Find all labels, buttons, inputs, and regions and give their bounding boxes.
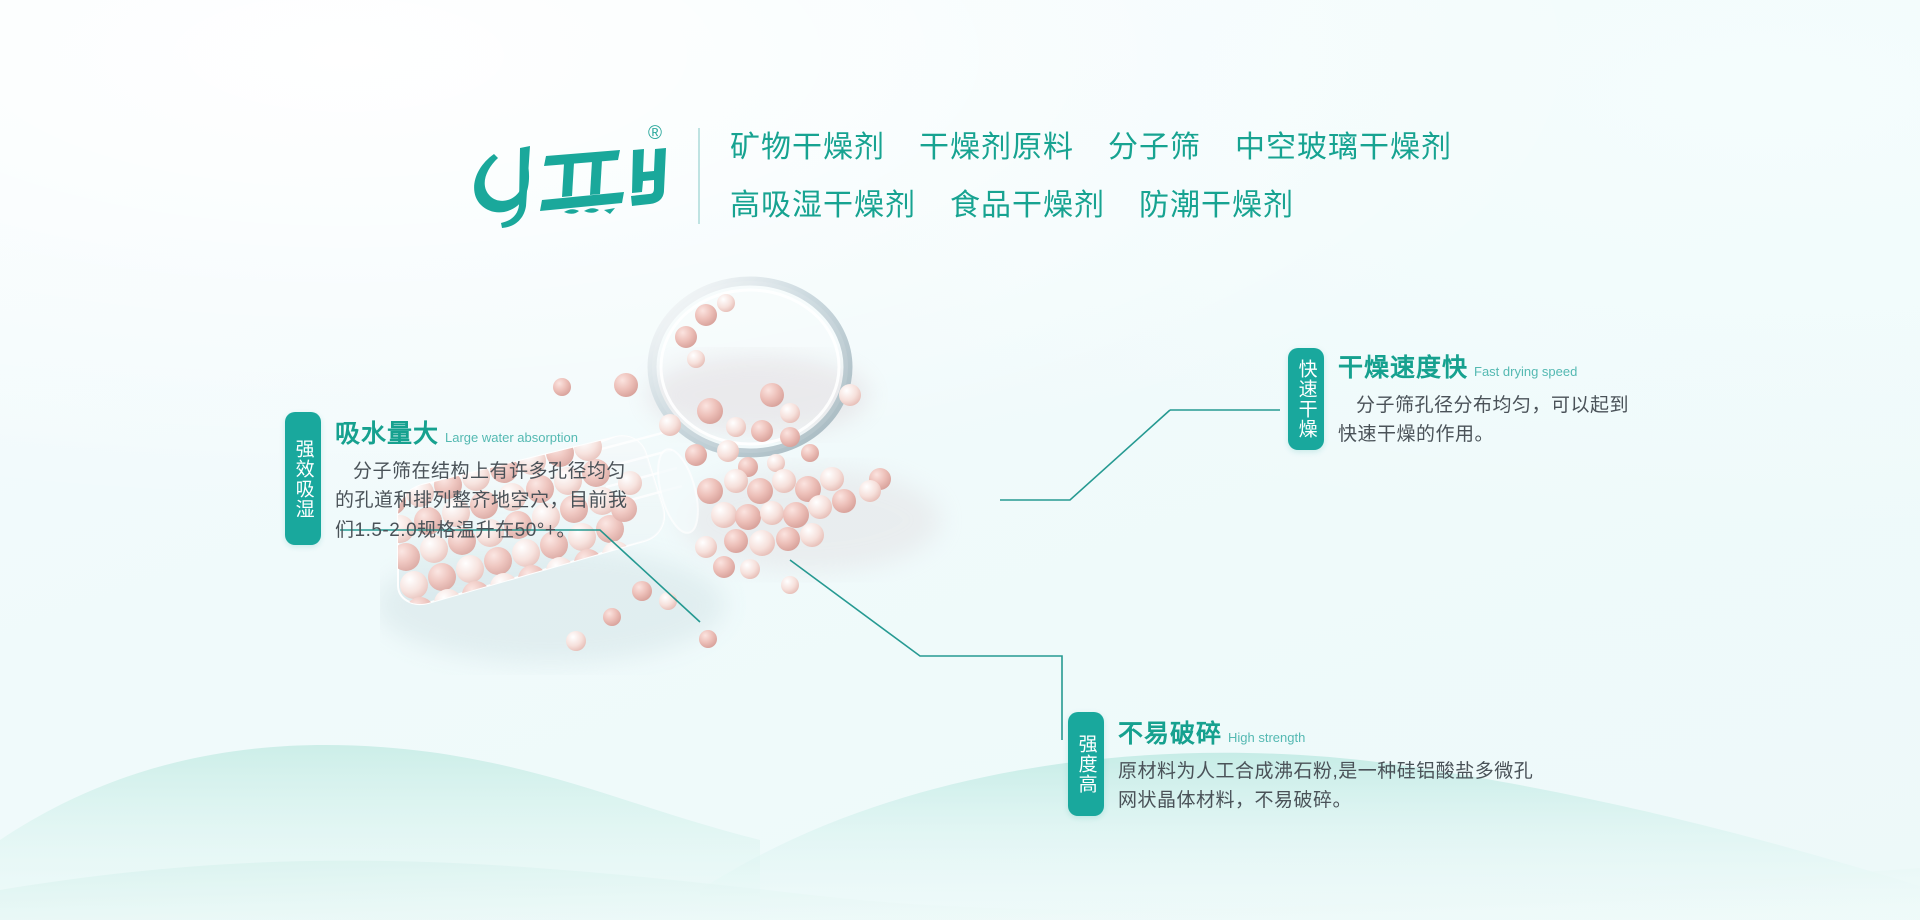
callout-title: 干燥速度快 <box>1338 348 1468 384</box>
callout-body: 原材料为人工合成沸石粉,是一种硅铝酸盐多微孔网状晶体材料，不易破碎。 <box>1118 757 1548 816</box>
banner-root: ® 矿物干燥剂 干燥剂原料 分子筛 中空玻璃干燥剂 高吸湿干燥剂 食品干燥剂 防… <box>0 0 1920 920</box>
callout-title: 不易破碎 <box>1118 714 1222 750</box>
callout-fast-drying-speed: 快速干燥 干燥速度快 Fast drying speed 分子筛孔径分布均匀，可… <box>1288 348 1638 450</box>
keyword-high-humidity-desiccant[interactable]: 高吸湿干燥剂 <box>730 180 916 224</box>
callout-large-water-absorption: 强效吸湿 吸水量大 Large water absorption 分子筛在结构上… <box>285 412 630 545</box>
keyword-row-1: 矿物干燥剂 干燥剂原料 分子筛 中空玻璃干燥剂 <box>730 122 1452 166</box>
callout-title: 吸水量大 <box>335 414 439 450</box>
registered-trademark-icon: ® <box>648 124 662 143</box>
jar-lid-ring <box>652 281 848 453</box>
keyword-insulating-glass-desiccant[interactable]: 中空玻璃干燥剂 <box>1235 122 1452 166</box>
callout-high-strength: 强度高 不易破碎 High strength 原材料为人工合成沸石粉,是一种硅铝… <box>1068 712 1548 816</box>
callout-subtitle: High strength <box>1228 730 1305 745</box>
wave-decoration <box>0 690 1920 920</box>
keyword-desiccant-raw-material[interactable]: 干燥剂原料 <box>919 122 1074 166</box>
leader-right <box>1000 410 1170 500</box>
keyword-mineral-desiccant[interactable]: 矿物干燥剂 <box>730 122 885 166</box>
callout-badge-high-strength: 强度高 <box>1068 712 1104 816</box>
callout-subtitle: Fast drying speed <box>1474 364 1577 379</box>
callout-badge-fast-drying: 快速干燥 <box>1288 348 1324 450</box>
keyword-list: 矿物干燥剂 干燥剂原料 分子筛 中空玻璃干燥剂 高吸湿干燥剂 食品干燥剂 防潮干… <box>730 120 1452 224</box>
keyword-molecular-sieve[interactable]: 分子筛 <box>1108 122 1201 166</box>
keyword-food-desiccant[interactable]: 食品干燥剂 <box>950 180 1105 224</box>
callout-badge-strong-absorption: 强效吸湿 <box>285 412 321 545</box>
callout-subtitle: Large water absorption <box>445 430 578 445</box>
brand-logo[interactable]: ® <box>468 120 668 230</box>
keyword-moisture-proof-desiccant[interactable]: 防潮干燥剂 <box>1139 180 1294 224</box>
header-divider <box>698 128 700 224</box>
callout-body: 分子筛在结构上有许多孔径均匀的孔道和排列整齐地空穴，目前我们1.5-2.0规格温… <box>335 457 630 545</box>
callout-body: 分子筛孔径分布均匀，可以起到快速干燥的作用。 <box>1338 391 1638 450</box>
keyword-row-2: 高吸湿干燥剂 食品干燥剂 防潮干燥剂 <box>730 180 1452 224</box>
page-header: ® 矿物干燥剂 干燥剂原料 分子筛 中空玻璃干燥剂 高吸湿干燥剂 食品干燥剂 防… <box>0 120 1920 230</box>
